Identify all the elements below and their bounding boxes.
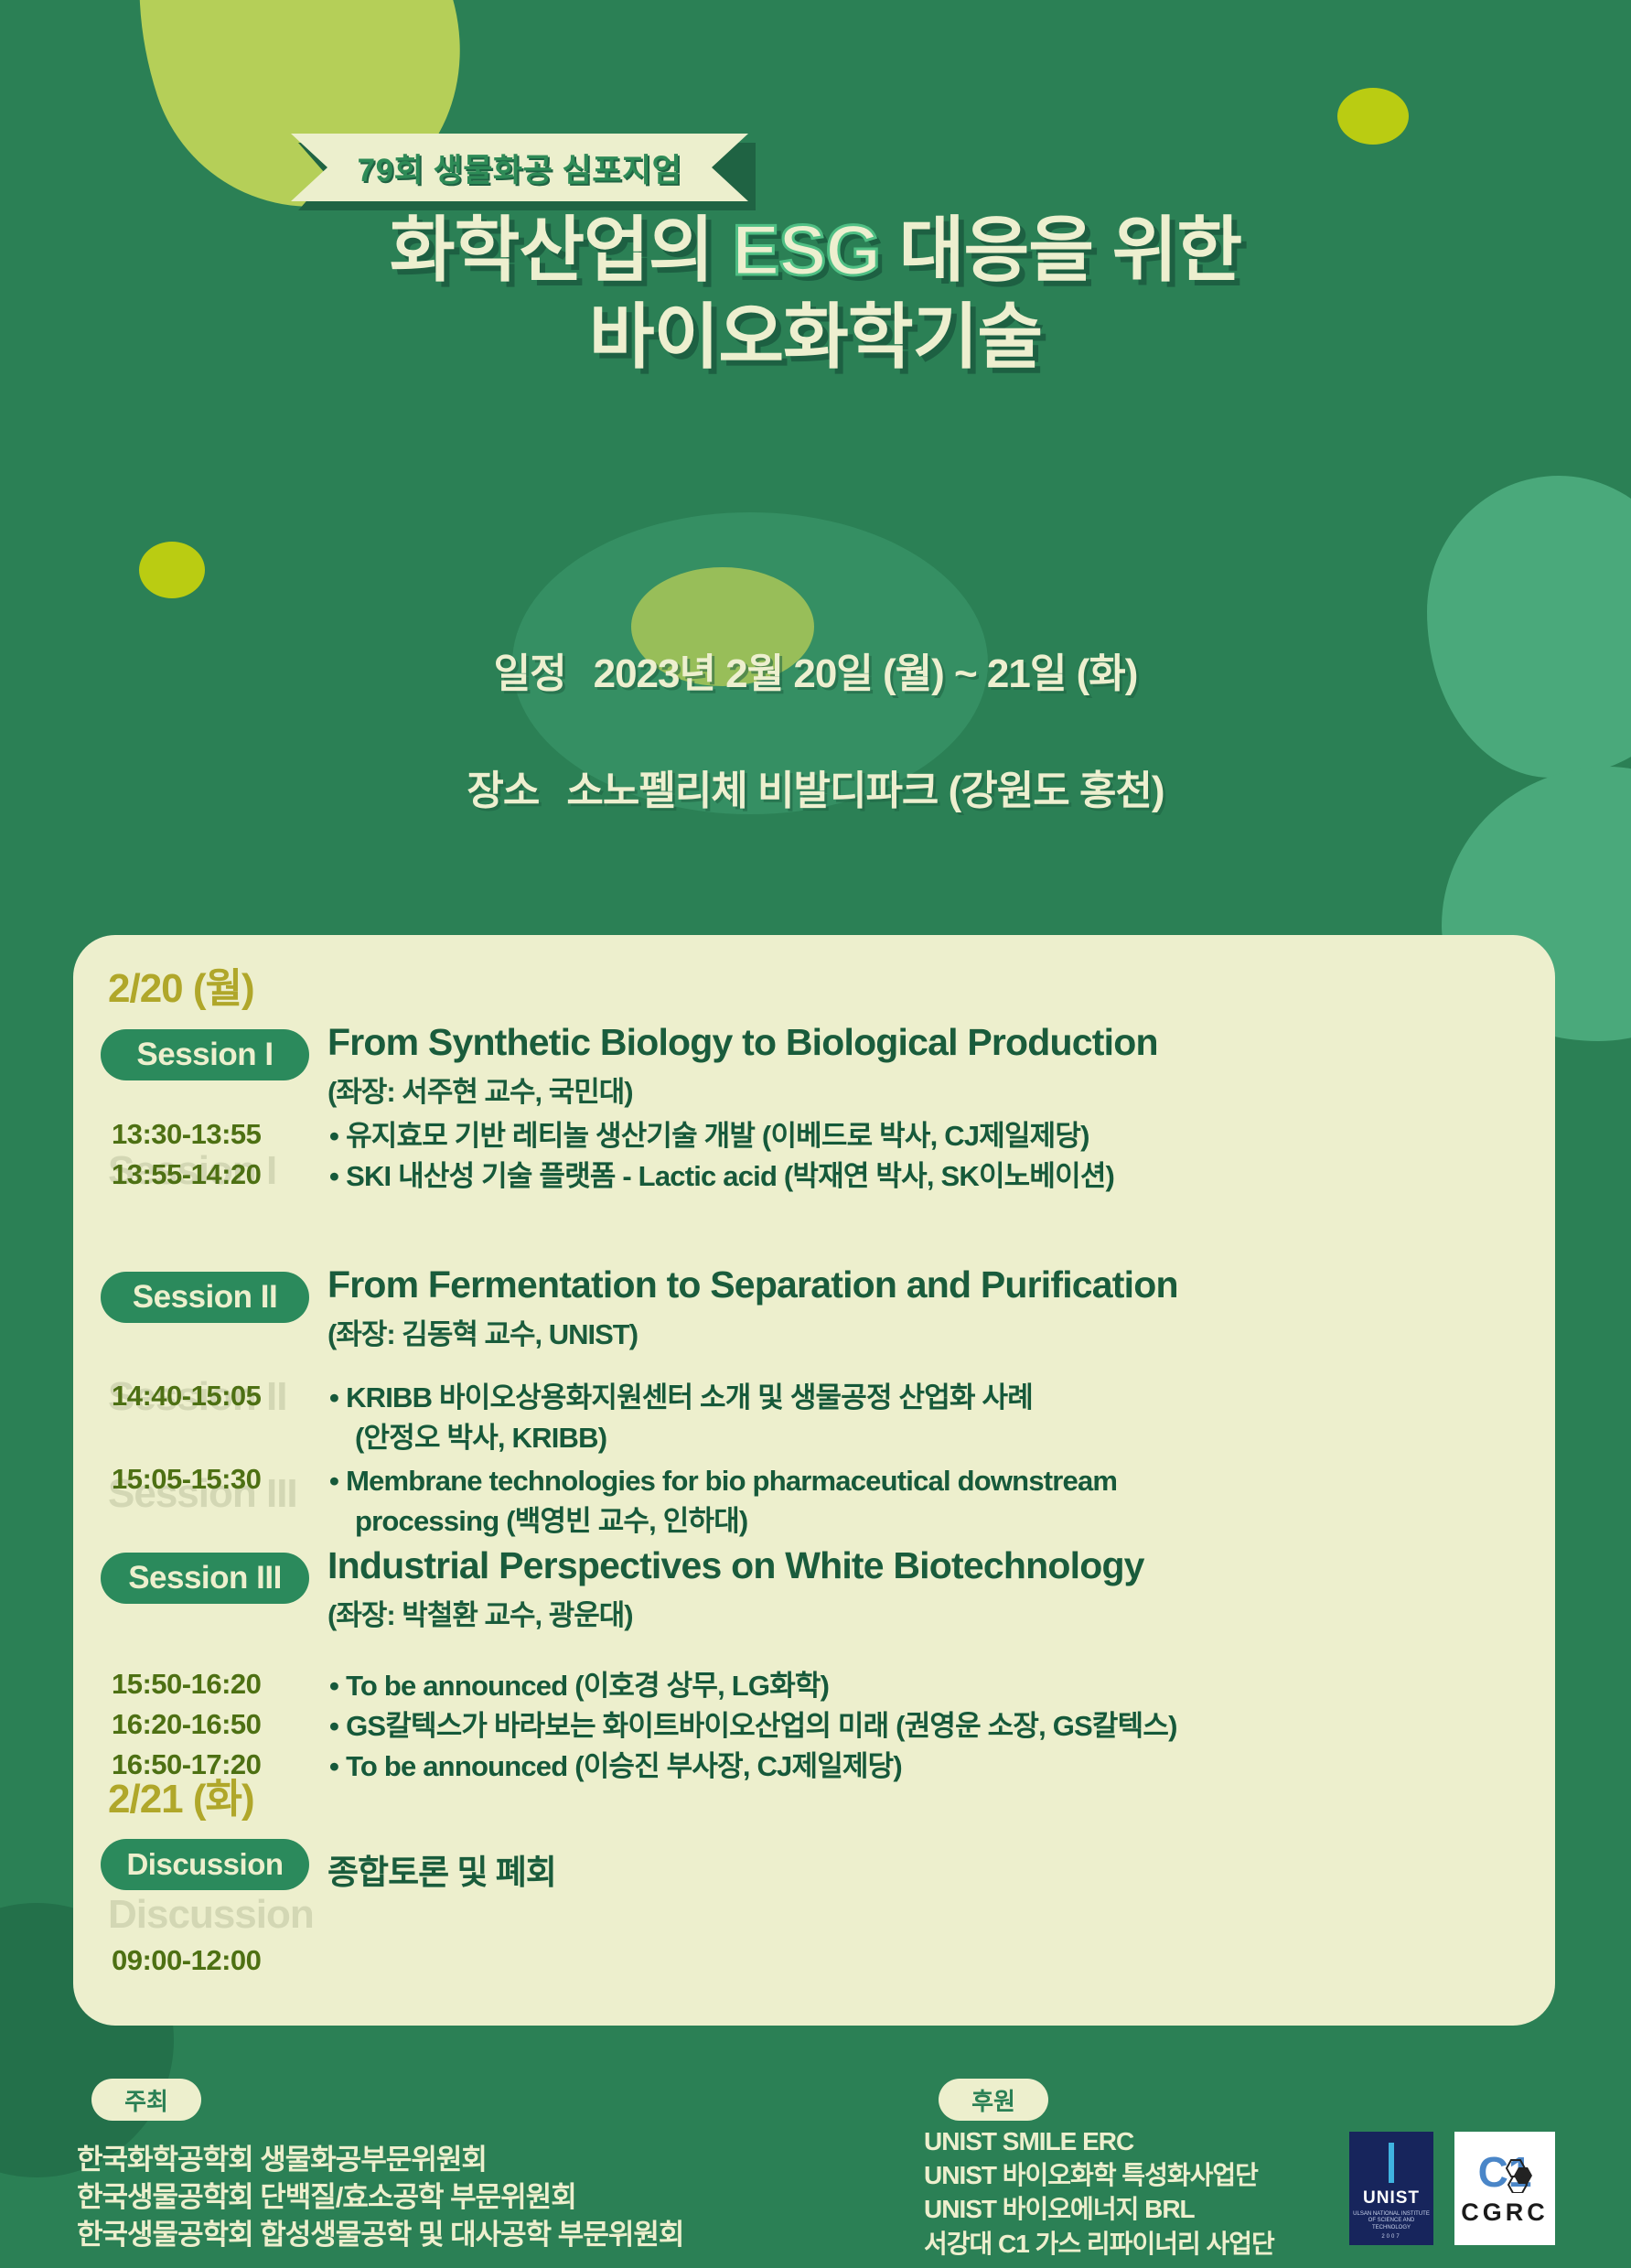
session-2-chair: (좌장: 김동혁 교수, UNIST) (327, 1311, 638, 1352)
session-2-pill[interactable]: Session II (101, 1272, 309, 1323)
sponsor-list: UNIST SMILE ERC UNIST 바이오화학 특성화사업단 UNIST… (924, 2124, 1274, 2261)
talk-continuation: processing (백영빈 교수, 인하대) (355, 1503, 747, 1540)
decor-dot-left (139, 542, 205, 598)
session-3-chair: (좌장: 박철환 교수, 광운대) (327, 1592, 633, 1633)
host-line: 한국화학공학회 생물화공부문위원회 (77, 2141, 683, 2178)
title-line-2: 바이오화학기술 (0, 294, 1631, 381)
date-label: 일정 (494, 651, 566, 696)
sponsor-line: 서강대 C1 가스 리파이너리 사업단 (924, 2227, 1274, 2261)
page-title: 화학산업의 ESG 대응을 위한 바이오화학기술 (0, 207, 1631, 381)
title-line-1: 화학산업의 ESG 대응을 위한 (0, 207, 1631, 294)
event-venue-row: 장소소노펠리체 비발디파크 (강원도 홍천) (0, 758, 1631, 816)
talk-text: •유지효모 기반 레티놀 생산기술 개발 (이베드로 박사, CJ제일제당) (329, 1118, 1089, 1155)
talk-text: •To be announced (이승진 부사장, CJ제일제당) (329, 1748, 902, 1785)
venue-value: 소노펠리체 비발디파크 (강원도 홍천) (566, 769, 1164, 813)
talk-time: 15:50-16:20 (112, 1668, 261, 1701)
talk-label: To be announced (이승진 부사장, CJ제일제당) (346, 1750, 902, 1782)
sponsor-label-pill: 후원 (939, 2079, 1048, 2121)
session-1-chair: (좌장: 서주현 교수, 국민대) (327, 1069, 633, 1110)
talk-label: To be announced (이호경 상무, LG화학) (346, 1670, 829, 1702)
sponsor-line: UNIST SMILE ERC (924, 2124, 1274, 2158)
talk-time: 13:55-14:20 (112, 1158, 261, 1191)
talk-time: 15:05-15:30 (112, 1463, 261, 1496)
talk-text: •To be announced (이호경 상무, LG화학) (329, 1668, 829, 1704)
host-label-pill: 주최 (91, 2079, 201, 2121)
title-line1-a: 화학산업의 (390, 210, 732, 290)
session-3-title: Industrial Perspectives on White Biotech… (327, 1546, 1144, 1585)
unist-logo-bar-icon (1389, 2143, 1394, 2183)
unist-logo-name: UNIST (1363, 2188, 1420, 2209)
bullet-icon: • (329, 1465, 338, 1497)
talk-text: •GS칼텍스가 바라보는 화이트바이오산업의 미래 (권영운 소장, GS칼텍스… (329, 1708, 1177, 1745)
talk-label: KRIBB 바이오상용화지원센터 소개 및 생물공정 산업화 사례 (346, 1381, 1033, 1413)
bullet-icon: • (329, 1670, 338, 1702)
bullet-icon: • (329, 1381, 338, 1413)
venue-label: 장소 (467, 769, 539, 813)
bullet-icon: • (329, 1160, 338, 1192)
bullet-icon: • (329, 1120, 338, 1152)
host-list: 한국화학공학회 생물화공부문위원회 한국생물공학회 단백질/효소공학 부문위원회… (77, 2141, 683, 2254)
cgrc-logo: C1 CGRC (1454, 2132, 1555, 2245)
discussion-time: 09:00-12:00 (112, 1944, 261, 1977)
host-line: 한국생물공학회 단백질/효소공학 부문위원회 (77, 2178, 683, 2216)
sponsor-line: UNIST 바이오에너지 BRL (924, 2192, 1274, 2226)
unist-logo-subtitle: ULSAN NATIONAL INSTITUTE OF SCIENCE AND … (1349, 2211, 1433, 2232)
hexagon-icon (1498, 2156, 1535, 2193)
unist-logo-year: 2007 (1381, 2234, 1400, 2240)
day-label-1: 2/20 (월) (108, 955, 254, 1014)
title-line1-b: 대응을 위한 (880, 210, 1241, 290)
talk-text: •KRIBB 바이오상용화지원센터 소개 및 생물공정 산업화 사례 (329, 1380, 1033, 1416)
session-3-pill[interactable]: Session III (101, 1553, 309, 1604)
talk-time: 16:20-16:50 (112, 1708, 261, 1741)
sponsor-line: UNIST 바이오화학 특성화사업단 (924, 2158, 1274, 2192)
decor-dot-right (1337, 88, 1409, 145)
discussion-pill[interactable]: Discussion (101, 1839, 309, 1890)
date-value: 2023년 2월 20일 (월) ~ 21일 (화) (594, 651, 1138, 696)
ribbon-body: 79회 생물화공 심포지엄 (291, 134, 748, 201)
poster-canvas: 79회 생물화공 심포지엄 화학산업의 ESG 대응을 위한 바이오화학기술 일… (0, 0, 1631, 2268)
event-date-row: 일정2023년 2월 20일 (월) ~ 21일 (화) (0, 640, 1631, 699)
session-1-pill[interactable]: Session I (101, 1029, 309, 1080)
talk-text: •Membrane technologies for bio pharmaceu… (329, 1463, 1117, 1499)
decor-blob-right-upper (1427, 476, 1631, 778)
talk-label: 유지효모 기반 레티놀 생산기술 개발 (이베드로 박사, CJ제일제당) (346, 1120, 1089, 1152)
talk-continuation: (안정오 박사, KRIBB) (355, 1420, 606, 1456)
talk-label: Membrane technologies for bio pharmaceut… (346, 1465, 1117, 1497)
title-esg: ESG (732, 210, 880, 290)
event-ribbon: 79회 생물화공 심포지엄 (291, 134, 748, 201)
talk-label: GS칼텍스가 바라보는 화이트바이오산업의 미래 (권영운 소장, GS칼텍스) (346, 1710, 1177, 1742)
session-2-title: From Fermentation to Separation and Puri… (327, 1265, 1178, 1305)
talk-time: 13:30-13:55 (112, 1118, 261, 1151)
discussion-text: 종합토론 및 폐회 (327, 1844, 556, 1894)
cgrc-logo-text: CGRC (1461, 2198, 1549, 2227)
talk-time: 14:40-15:05 (112, 1380, 261, 1413)
unist-logo: UNIST ULSAN NATIONAL INSTITUTE OF SCIENC… (1349, 2132, 1433, 2245)
cgrc-logo-c1: C1 (1478, 2151, 1532, 2193)
session-1-title: From Synthetic Biology to Biological Pro… (327, 1023, 1158, 1062)
talk-time: 16:50-17:20 (112, 1748, 261, 1781)
bullet-icon: • (329, 1750, 338, 1782)
bullet-icon: • (329, 1710, 338, 1742)
host-line: 한국생물공학회 합성생물공학 및 대사공학 부문위원회 (77, 2216, 683, 2253)
talk-label: SKI 내산성 기술 플랫폼 - Lactic acid (박재연 박사, SK… (346, 1160, 1114, 1192)
talk-text: •SKI 내산성 기술 플랫폼 - Lactic acid (박재연 박사, S… (329, 1158, 1114, 1195)
ribbon-label: 79회 생물화공 심포지엄 (358, 145, 682, 191)
